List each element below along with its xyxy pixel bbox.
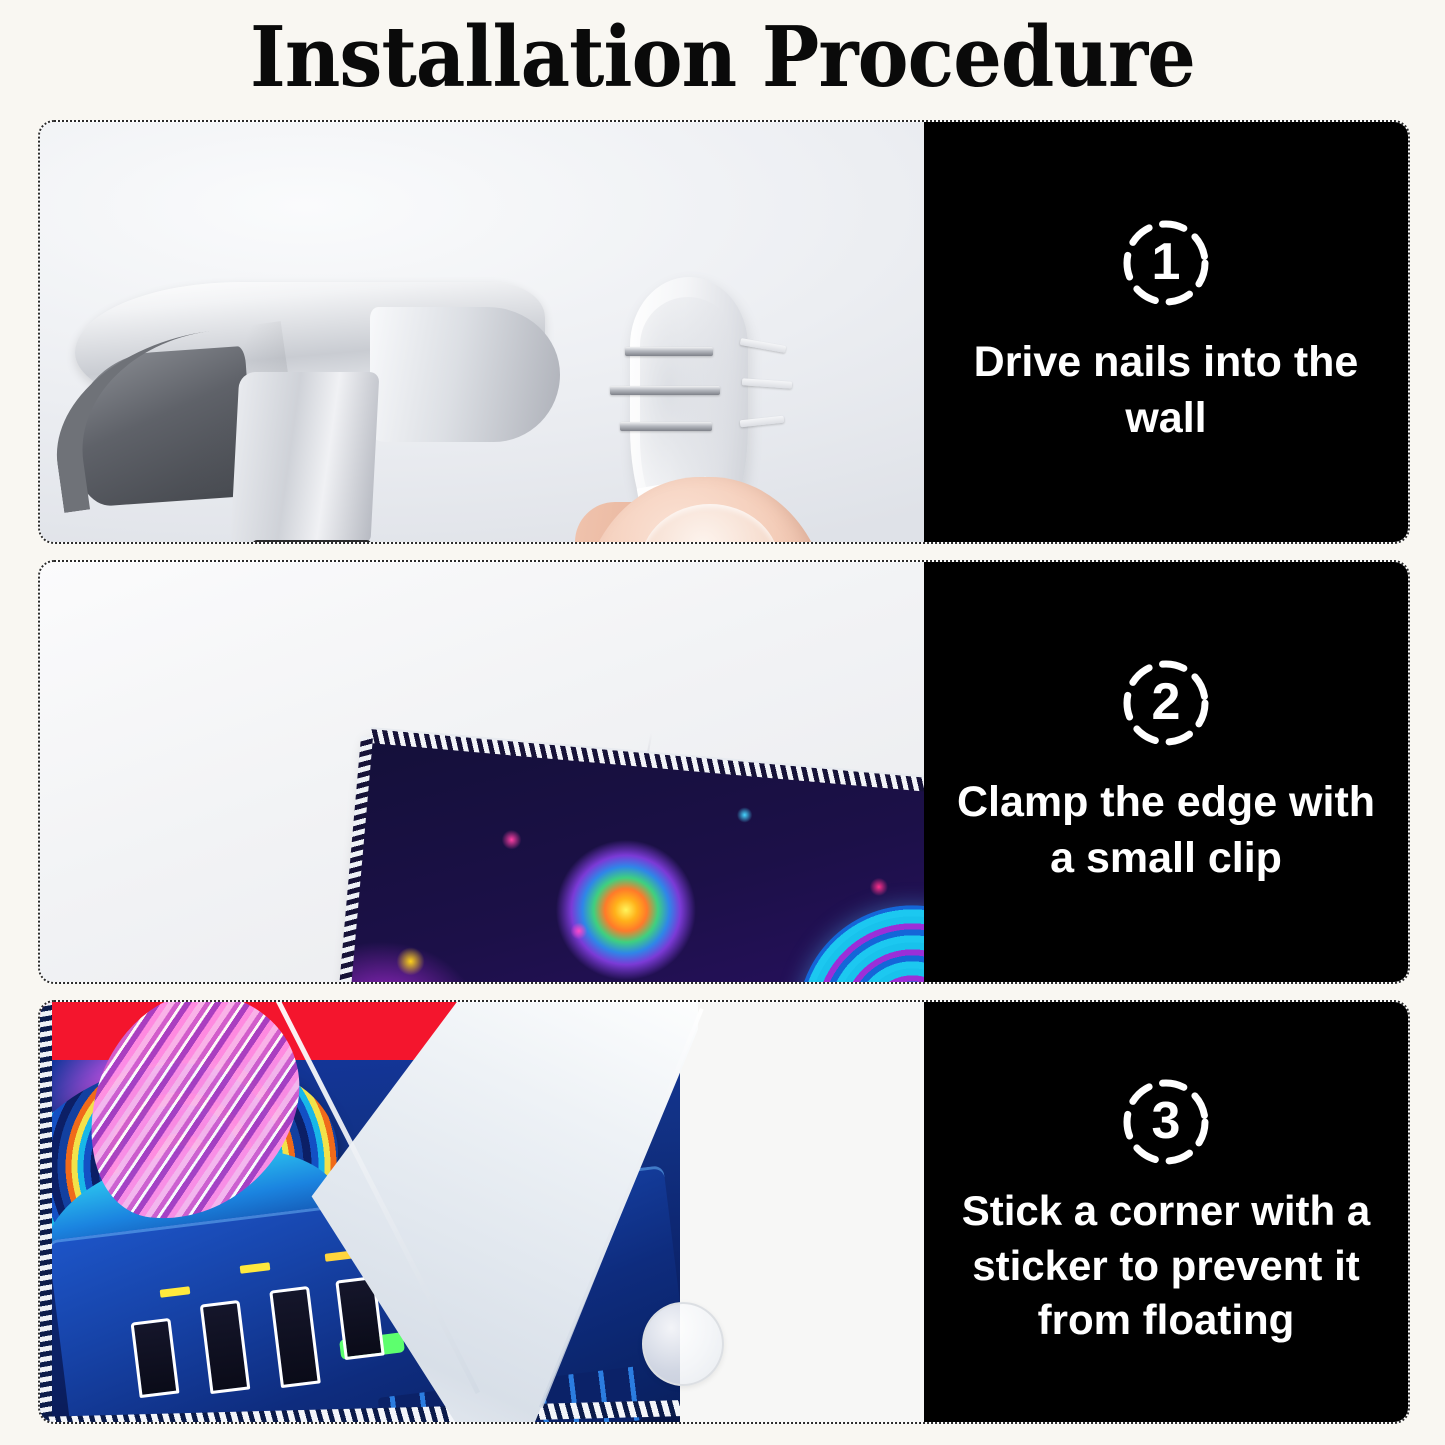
galaxy-tapestry-shape: [345, 737, 924, 982]
step-row-2: 2 Clamp the edge with a small clip: [38, 560, 1410, 984]
page-title: Installation Procedure: [58, 14, 1387, 101]
hook-nail-left-1: [625, 347, 713, 356]
step-number-3: 3: [1120, 1076, 1212, 1168]
hook-nail-right-2: [742, 378, 792, 388]
hook-nail-left-2: [610, 386, 720, 395]
step-3-photo: [40, 1002, 924, 1422]
step-number-1: 1: [1120, 217, 1212, 309]
step-2-photo: [40, 562, 924, 982]
tapestry-top-stitching: [369, 727, 924, 799]
step-2-caption-panel: 2 Clamp the edge with a small clip: [924, 562, 1408, 982]
planet-shape: [788, 896, 924, 982]
step-3-text: Stick a corner with a sticker to prevent…: [942, 1184, 1390, 1348]
tapestry-left-stitching: [336, 736, 373, 982]
hammer-neck-shape: [231, 372, 380, 542]
step-1-caption-panel: 1 Drive nails into the wall: [924, 122, 1408, 542]
step-1-text: Drive nails into the wall: [951, 335, 1381, 447]
round-clear-sticker: [642, 1302, 724, 1386]
step-number-badge-3: 3: [1120, 1076, 1212, 1168]
hammer-face-shape: [370, 307, 560, 442]
step-number-badge-2: 2: [1120, 657, 1212, 749]
step-row-1: 1 Drive nails into the wall: [38, 120, 1410, 544]
step-row-3: 3 Stick a corner with a sticker to preve…: [38, 1000, 1410, 1424]
hook-nail-left-3: [620, 422, 712, 431]
step-2-text: Clamp the edge with a small clip: [951, 775, 1381, 887]
step-3-caption-panel: 3 Stick a corner with a sticker to preve…: [924, 1002, 1408, 1422]
step-number-badge-1: 1: [1120, 217, 1212, 309]
step-1-photo: [40, 122, 924, 542]
hammer-ferrule-band-shape: [251, 540, 371, 542]
installation-procedure-page: Installation Procedure: [0, 0, 1445, 1445]
step-number-2: 2: [1120, 657, 1212, 749]
tapestry-left-stitching: [40, 1002, 52, 1422]
